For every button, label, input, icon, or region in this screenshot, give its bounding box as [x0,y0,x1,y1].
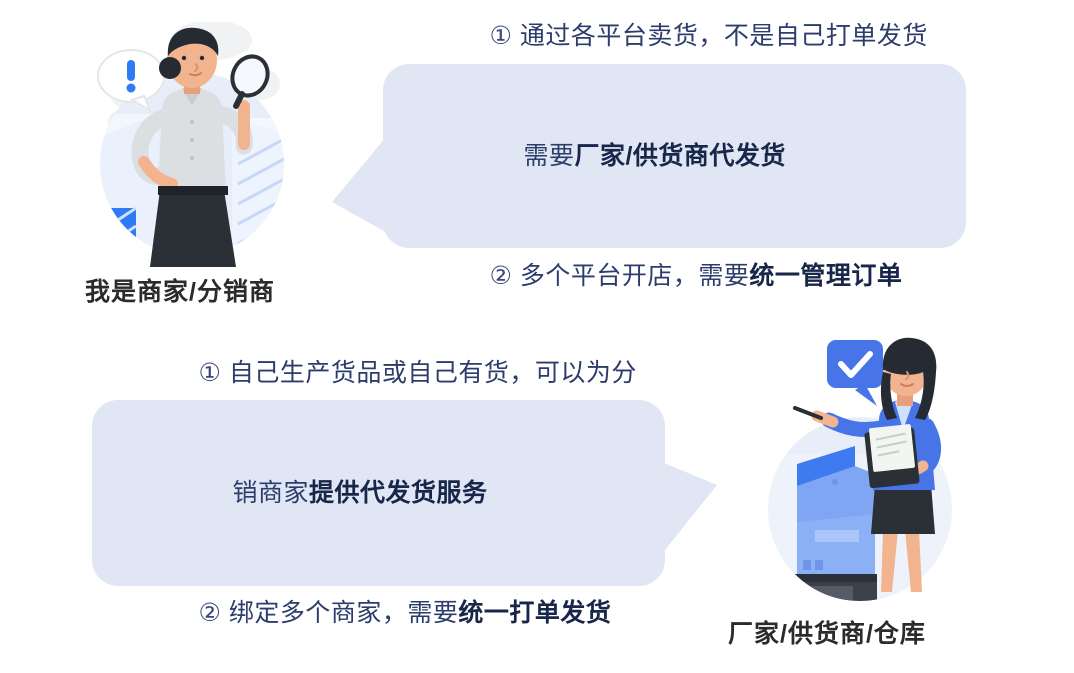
supplier-line2-prefix: 销商家 [232,479,309,507]
supplier-line3-emphasis: 统一打单发货 [458,599,611,627]
list-marker-2: ② [489,262,519,290]
check-badge-icon [827,340,883,406]
merchant-caption: 我是商家/分销商 [85,272,275,308]
merchant-line3-text: 多个平台开店，需要 [520,262,750,290]
list-marker-1: ① [198,359,228,387]
illustration-canvas: 我是商家/分销商 ① 通过各平台卖货，不是自己打单发货 需要厂家/供货商代发货 … [0,0,1074,668]
merchant-illustration [92,22,292,267]
merchant-line2-prefix: 需要 [523,142,574,170]
merchant-line3-emphasis: 统一管理订单 [749,262,902,290]
merchant-line2-emphasis: 厂家/供货商代发货 [574,142,785,170]
supplier-bubble-item-2: ② 绑定多个商家，需要统一打单发货 [124,553,633,673]
supplier-speech-bubble: ① 自己生产货品或自己有货，可以为分 销商家提供代发货服务 ② 绑定多个商家，需… [92,400,665,586]
supplier-illustration [755,334,965,609]
list-marker-2: ② [198,599,228,627]
supplier-line3-text: 绑定多个商家，需要 [229,599,459,627]
list-marker-1: ① [489,22,519,50]
supplier-line2-emphasis: 提供代发货服务 [309,479,488,507]
supplier-line1-text: 自己生产货品或自己有货，可以为分 [229,359,637,387]
clipboard-icon [864,424,920,489]
merchant-speech-bubble: ① 通过各平台卖货，不是自己打单发货 需要厂家/供货商代发货 ② 多个平台开店，… [383,64,966,248]
supplier-bubble-item-1: ① 自己生产货品或自己有货，可以为分 销商家提供代发货服务 [124,313,633,553]
merchant-line1-text: 通过各平台卖货，不是自己打单发货 [520,22,928,50]
supplier-caption: 厂家/供货商/仓库 [728,614,926,650]
merchant-bubble-item-1: ① 通过各平台卖货，不是自己打单发货 需要厂家/供货商代发货 [415,0,934,216]
